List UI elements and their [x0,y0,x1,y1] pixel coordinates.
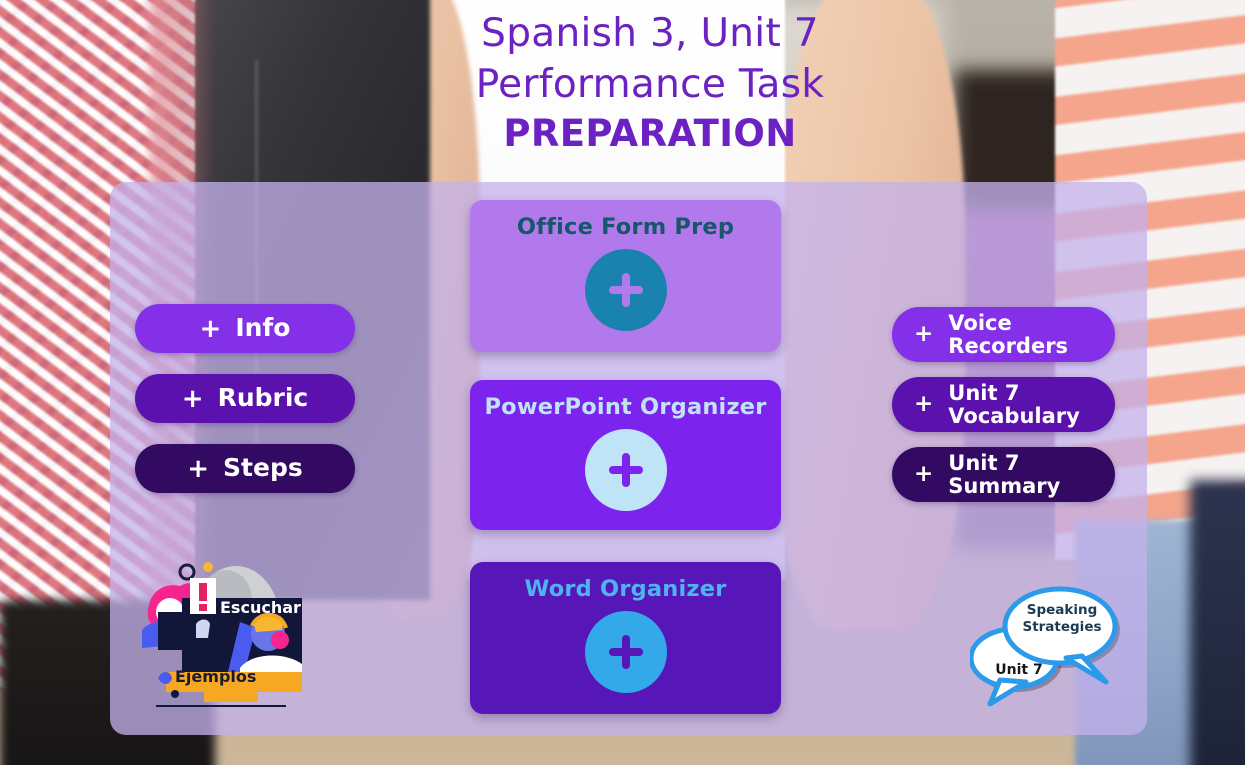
button-steps[interactable]: + Steps [135,444,355,493]
speaking-strategies-bubbles[interactable]: Speaking Strategies Unit 7 [970,580,1140,710]
button-info-label: Info [235,315,290,342]
button-rubric-label: Rubric [218,385,309,412]
plus-icon: + [914,393,933,416]
button-info[interactable]: + Info [135,304,355,353]
button-voice-recorders-label: Voice Recorders [948,312,1115,357]
button-unit7-vocabulary[interactable]: + Unit 7 Vocabulary [892,377,1115,432]
plus-circle-icon[interactable] [585,429,667,511]
card-word-organizer-title: Word Organizer [524,576,726,602]
plus-icon: + [182,386,204,412]
button-voice-recorders[interactable]: + Voice Recorders [892,307,1115,362]
card-office-form-prep-title: Office Form Prep [517,214,734,240]
card-powerpoint-organizer-title: PowerPoint Organizer [484,394,766,420]
plus-icon: + [914,323,933,346]
illustration-label-ejemplos: Ejemplos [175,667,256,686]
title-line-2: Performance Task [440,59,860,110]
card-powerpoint-organizer[interactable]: PowerPoint Organizer [470,380,781,530]
plus-icon: + [200,316,222,342]
button-unit7-vocabulary-label: Unit 7 Vocabulary [948,382,1115,427]
button-unit7-summary[interactable]: + Unit 7 Summary [892,447,1115,502]
illustration-label-escuchar: Escuchar [220,598,301,617]
photo-jeans-dark [1190,480,1245,765]
card-word-organizer[interactable]: Word Organizer [470,562,781,714]
plus-circle-icon[interactable] [585,249,667,331]
listening-examples-illustration[interactable]: Escuchar Ejemplos [140,560,315,710]
plus-icon: + [914,463,933,486]
button-steps-label: Steps [223,455,303,482]
button-rubric[interactable]: + Rubric [135,374,355,423]
plus-icon: + [187,456,209,482]
title-line-1: Spanish 3, Unit 7 [440,8,860,59]
slide-canvas: Spanish 3, Unit 7 Performance Task PREPA… [0,0,1245,765]
button-unit7-summary-label: Unit 7 Summary [948,452,1115,497]
title-line-3: PREPARATION [440,110,860,158]
page-title: Spanish 3, Unit 7 Performance Task PREPA… [440,8,860,158]
plus-circle-icon[interactable] [585,611,667,693]
card-office-form-prep[interactable]: Office Form Prep [470,200,781,352]
